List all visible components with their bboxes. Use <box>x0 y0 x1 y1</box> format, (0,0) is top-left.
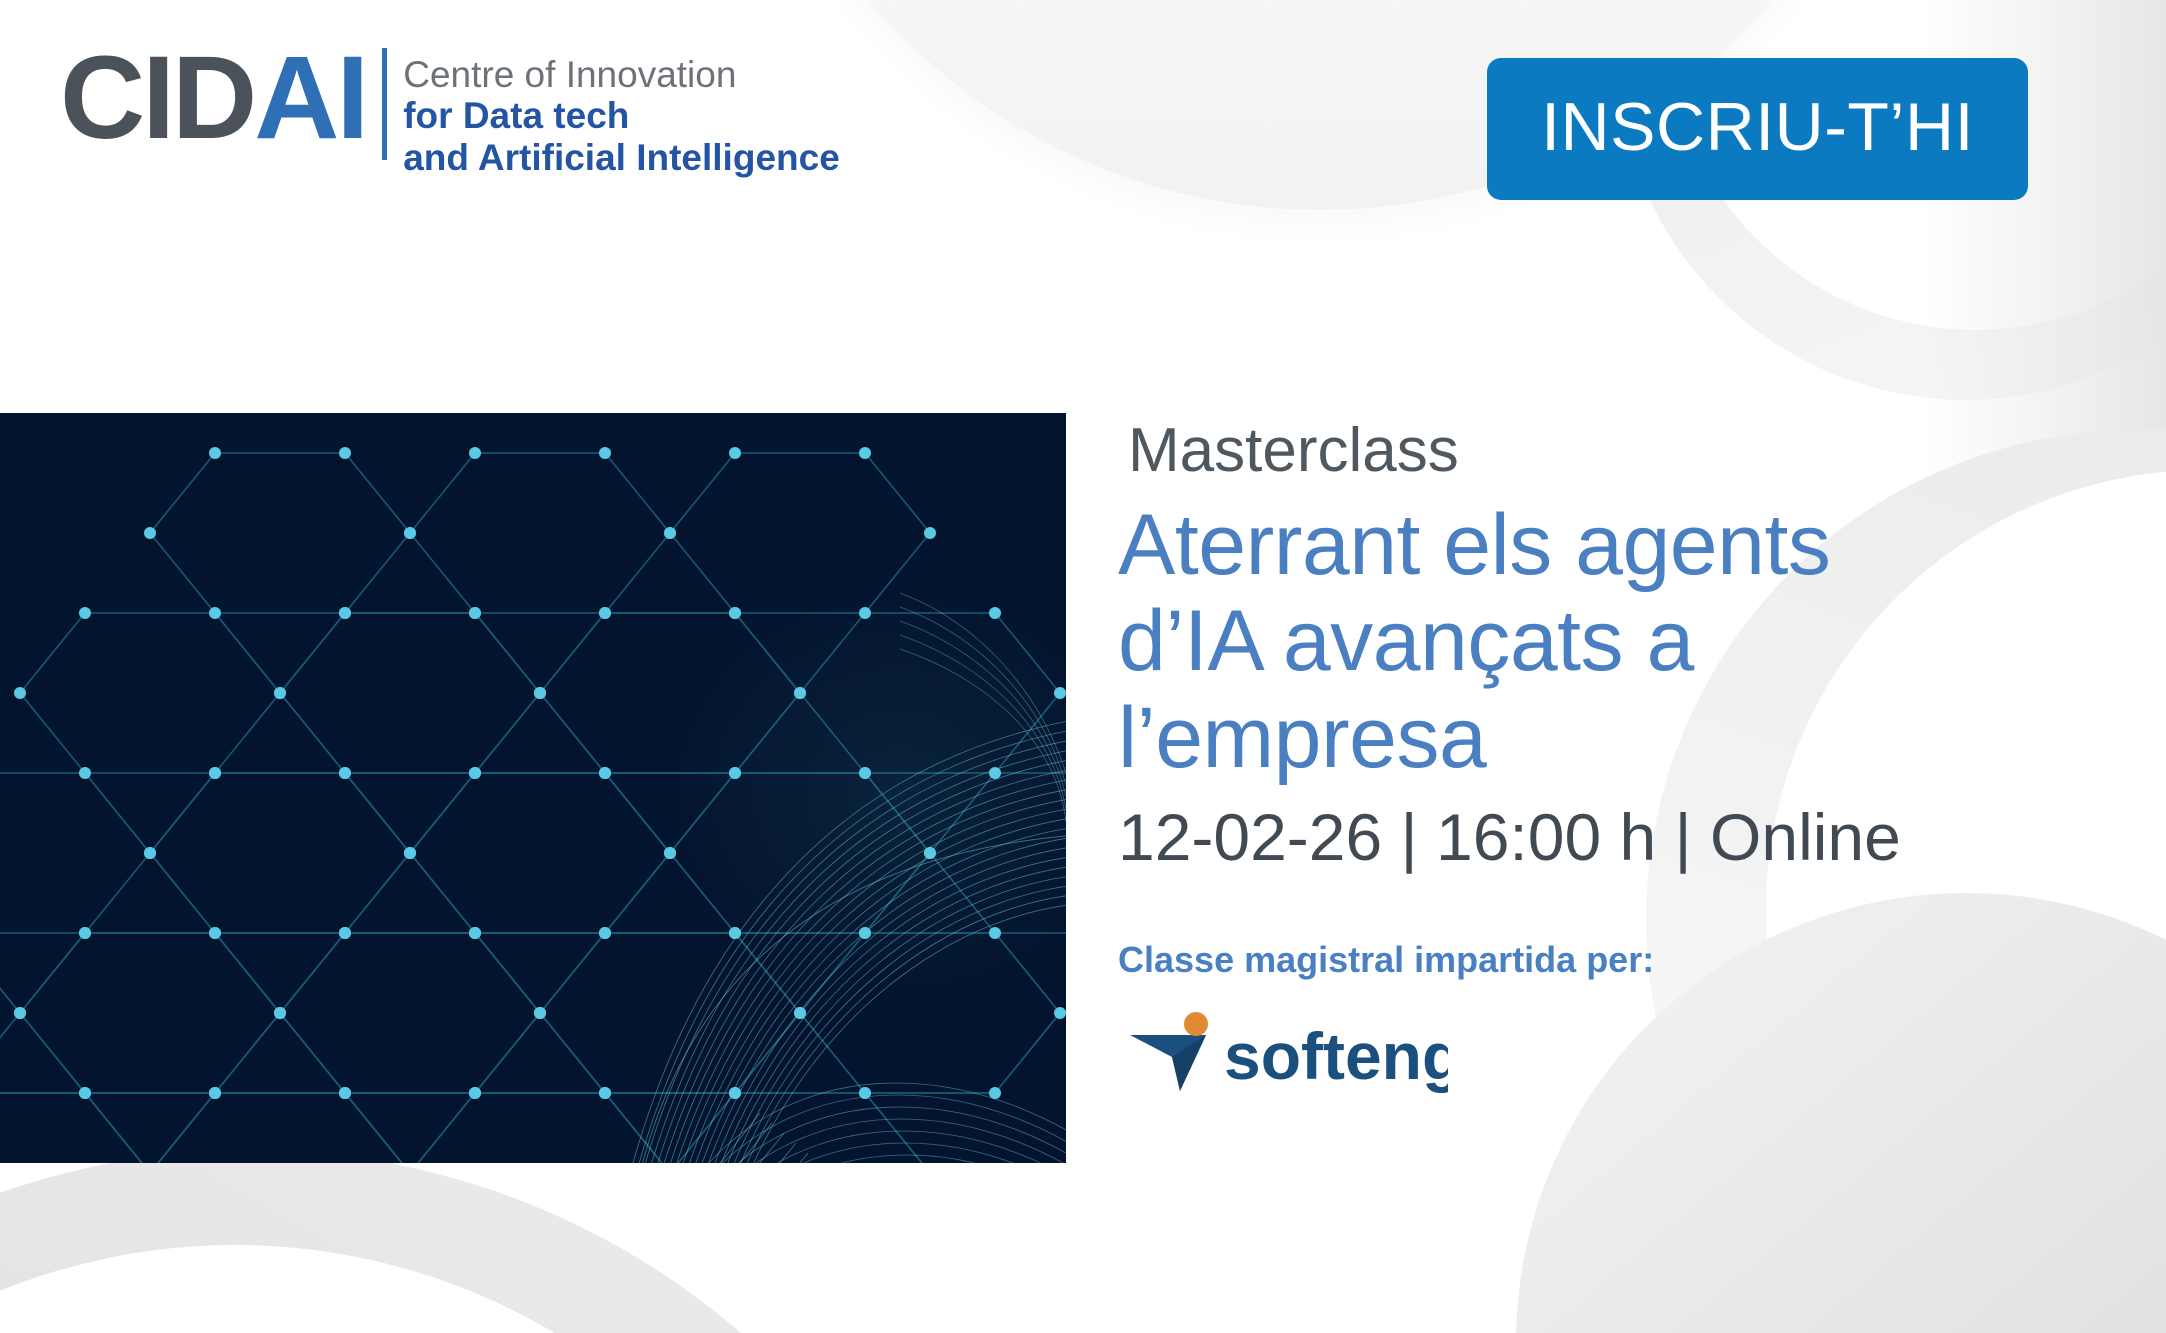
softeng-logo: softeng <box>1128 1009 2058 1095</box>
softeng-wordmark: softeng <box>1224 1019 1448 1093</box>
cidai-logo: CIDAI Centre of Innovation for Data tech… <box>60 42 840 178</box>
event-title-line-1: Aterrant els agents <box>1118 497 2058 593</box>
hero-network-graphic <box>0 413 1066 1163</box>
event-meta: 12-02-26 | 16:00 h | Online <box>1118 798 2058 877</box>
presenter-label: Classe magistral impartida per: <box>1118 939 2058 981</box>
cidai-tagline-line-1: Centre of Innovation <box>403 54 840 95</box>
cidai-logo-divider <box>382 48 387 160</box>
cidai-logo-mark-ai: AI <box>254 32 366 164</box>
cidai-logo-mark-cid: CID <box>60 32 254 164</box>
event-kicker: Masterclass <box>1118 418 2058 483</box>
cidai-tagline-line-2: for Data tech <box>403 95 840 136</box>
event-details: Masterclass Aterrant els agents d’IA ava… <box>1118 418 2058 1095</box>
cidai-logo-mark: CIDAI <box>60 42 366 154</box>
softeng-logo-graphic: softeng <box>1128 1009 1448 1095</box>
register-button[interactable]: INSCRIU-T’HI <box>1487 58 2028 200</box>
event-title-line-3: l’empresa <box>1118 690 2058 786</box>
cidai-tagline-line-3: and Artificial Intelligence <box>403 137 840 178</box>
hero-image <box>0 413 1066 1163</box>
event-title: Aterrant els agents d’IA avançats a l’em… <box>1118 497 2058 786</box>
event-title-line-2: d’IA avançats a <box>1118 593 2058 689</box>
cidai-logo-tagline: Centre of Innovation for Data tech and A… <box>403 42 840 178</box>
promo-banner: CIDAI Centre of Innovation for Data tech… <box>0 0 2166 1333</box>
softeng-dot-icon <box>1184 1012 1208 1036</box>
